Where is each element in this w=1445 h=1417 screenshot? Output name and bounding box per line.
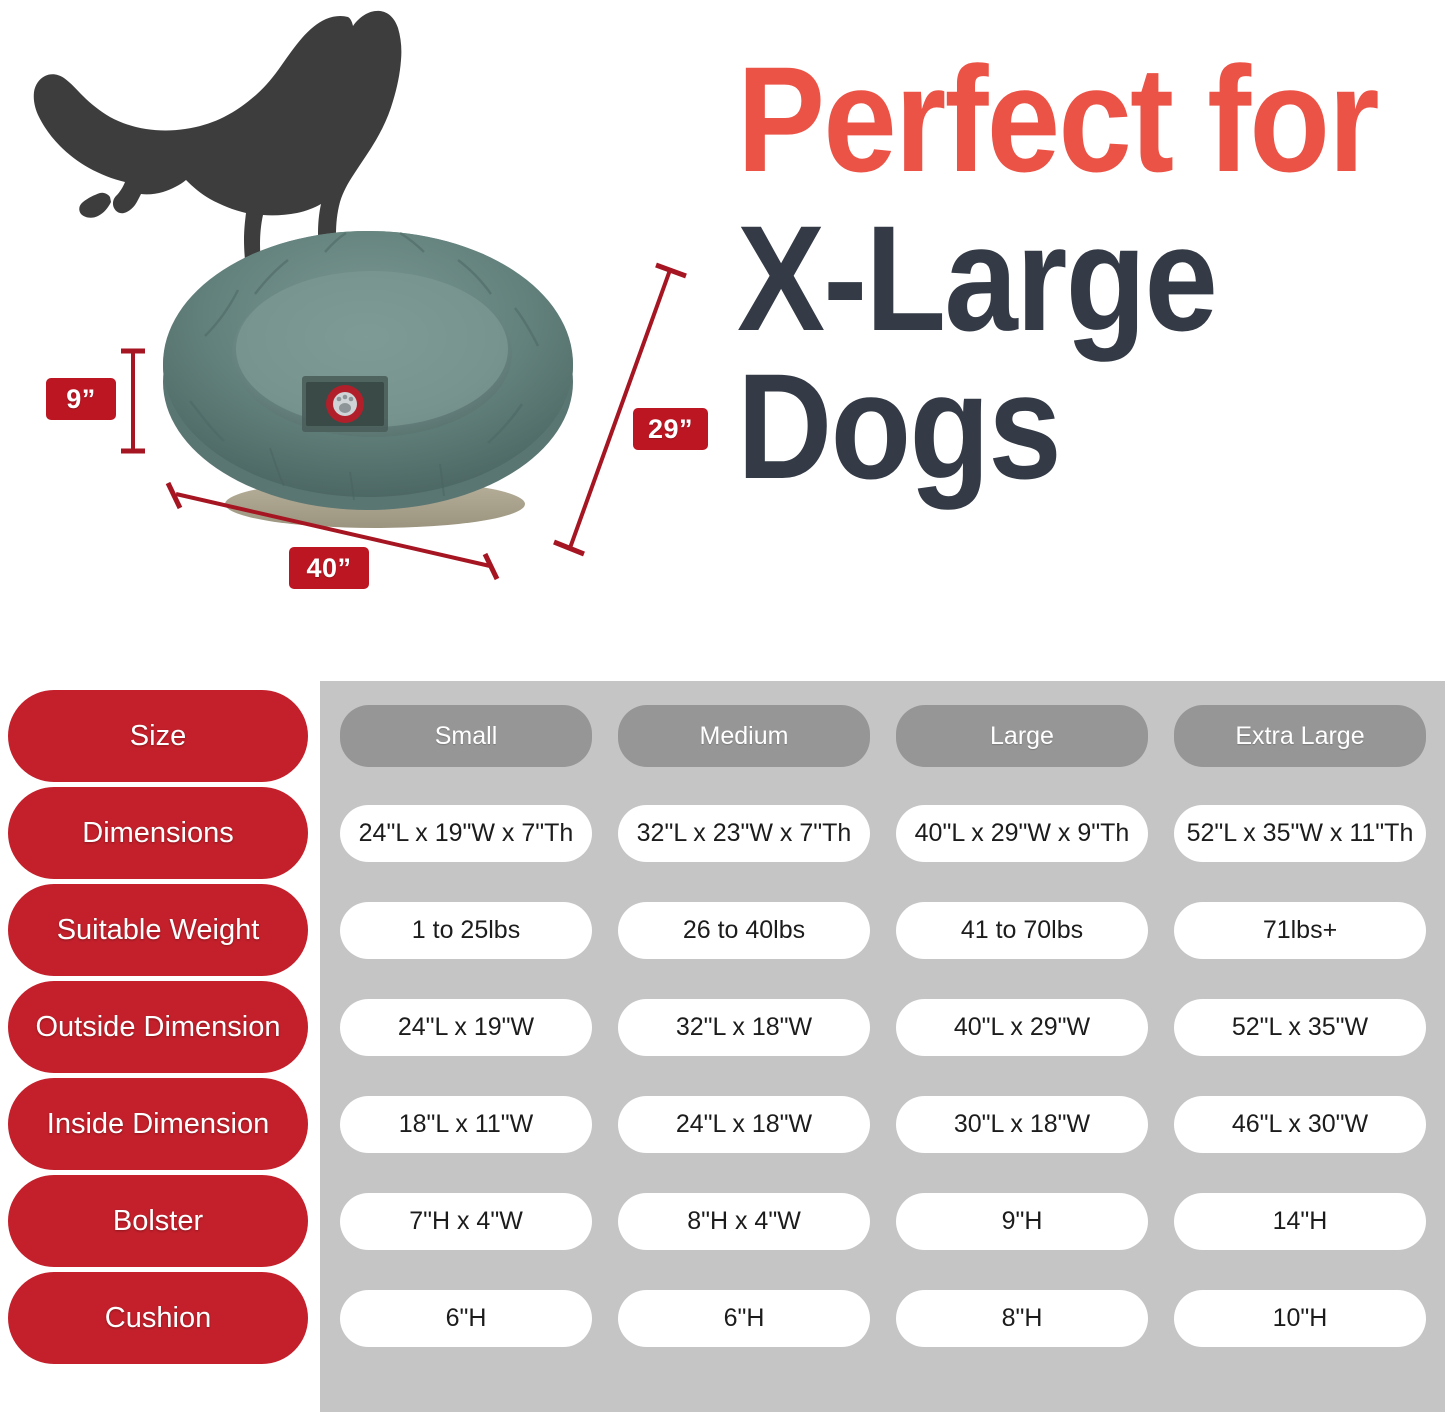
size-specification-table: Size Dimensions Suitable Weight Outside … <box>0 676 1445 1417</box>
headline: Perfect for X-Large Dogs <box>737 48 1437 498</box>
cell-outside-medium: 32"L x 18"W <box>618 999 870 1056</box>
row-label-dimensions: Dimensions <box>8 787 308 879</box>
cell-dimensions-small: 24"L x 19"W x 7"Th <box>340 805 592 862</box>
hero-section: 9” 40” 29” Perfect for X-Large Dogs <box>0 0 1445 676</box>
cell-bolster-medium: 8"H x 4"W <box>618 1193 870 1250</box>
column-header-small: Small <box>340 705 592 767</box>
cell-cushion-medium: 6"H <box>618 1290 870 1347</box>
cell-bolster-large: 9"H <box>896 1193 1148 1250</box>
table-value-grid: Small Medium Large Extra Large 24"L x 19… <box>340 690 1430 1369</box>
cell-bolster-extra-large: 14"H <box>1174 1193 1426 1250</box>
row-label-size: Size <box>8 690 308 782</box>
cell-weight-medium: 26 to 40lbs <box>618 902 870 959</box>
table-row-suitable-weight: 1 to 25lbs 26 to 40lbs 41 to 70lbs 71lbs… <box>340 884 1430 976</box>
headline-line-1: Perfect for <box>737 48 1353 191</box>
cell-outside-extra-large: 52"L x 35"W <box>1174 999 1426 1056</box>
row-label-suitable-weight: Suitable Weight <box>8 884 308 976</box>
cell-inside-large: 30"L x 18"W <box>896 1096 1148 1153</box>
cell-cushion-extra-large: 10"H <box>1174 1290 1426 1347</box>
column-header-medium: Medium <box>618 705 870 767</box>
row-label-cushion: Cushion <box>8 1272 308 1364</box>
table-row-outside-dimension: 24"L x 19"W 32"L x 18"W 40"L x 29"W 52"L… <box>340 981 1430 1073</box>
cell-cushion-large: 8"H <box>896 1290 1148 1347</box>
cell-cushion-small: 6"H <box>340 1290 592 1347</box>
cell-dimensions-medium: 32"L x 23"W x 7"Th <box>618 805 870 862</box>
cell-dimensions-large: 40"L x 29"W x 9"Th <box>896 805 1148 862</box>
row-label-bolster: Bolster <box>8 1175 308 1267</box>
column-header-large: Large <box>896 705 1148 767</box>
table-header-row: Small Medium Large Extra Large <box>340 690 1430 782</box>
cell-weight-small: 1 to 25lbs <box>340 902 592 959</box>
cell-inside-extra-large: 46"L x 30"W <box>1174 1096 1426 1153</box>
row-label-column: Size Dimensions Suitable Weight Outside … <box>8 690 308 1369</box>
headline-line-3: Dogs <box>737 355 1353 498</box>
cell-bolster-small: 7"H x 4"W <box>340 1193 592 1250</box>
cell-weight-extra-large: 71lbs+ <box>1174 902 1426 959</box>
table-row-bolster: 7"H x 4"W 8"H x 4"W 9"H 14"H <box>340 1175 1430 1267</box>
majestic-pet-brand-tag <box>302 376 388 432</box>
cell-weight-large: 41 to 70lbs <box>896 902 1148 959</box>
row-label-inside-dimension: Inside Dimension <box>8 1078 308 1170</box>
table-row-dimensions: 24"L x 19"W x 7"Th 32"L x 23"W x 7"Th 40… <box>340 787 1430 879</box>
table-row-cushion: 6"H 6"H 8"H 10"H <box>340 1272 1430 1364</box>
width-dimension-label: 29” <box>633 408 708 450</box>
product-infographic: 9” 40” 29” Perfect for X-Large Dogs Size… <box>0 0 1445 1417</box>
length-dimension-label: 40” <box>289 547 369 589</box>
row-label-outside-dimension: Outside Dimension <box>8 981 308 1073</box>
cell-inside-small: 18"L x 11"W <box>340 1096 592 1153</box>
height-dimension-label: 9” <box>46 378 116 420</box>
cell-outside-large: 40"L x 29"W <box>896 999 1148 1056</box>
cell-outside-small: 24"L x 19"W <box>340 999 592 1056</box>
height-dimension-line <box>118 346 148 456</box>
table-row-inside-dimension: 18"L x 11"W 24"L x 18"W 30"L x 18"W 46"L… <box>340 1078 1430 1170</box>
column-header-extra-large: Extra Large <box>1174 705 1426 767</box>
cell-dimensions-extra-large: 52"L x 35"W x 11"Th <box>1174 805 1426 862</box>
headline-line-2: X-Large <box>737 207 1353 350</box>
cell-inside-medium: 24"L x 18"W <box>618 1096 870 1153</box>
